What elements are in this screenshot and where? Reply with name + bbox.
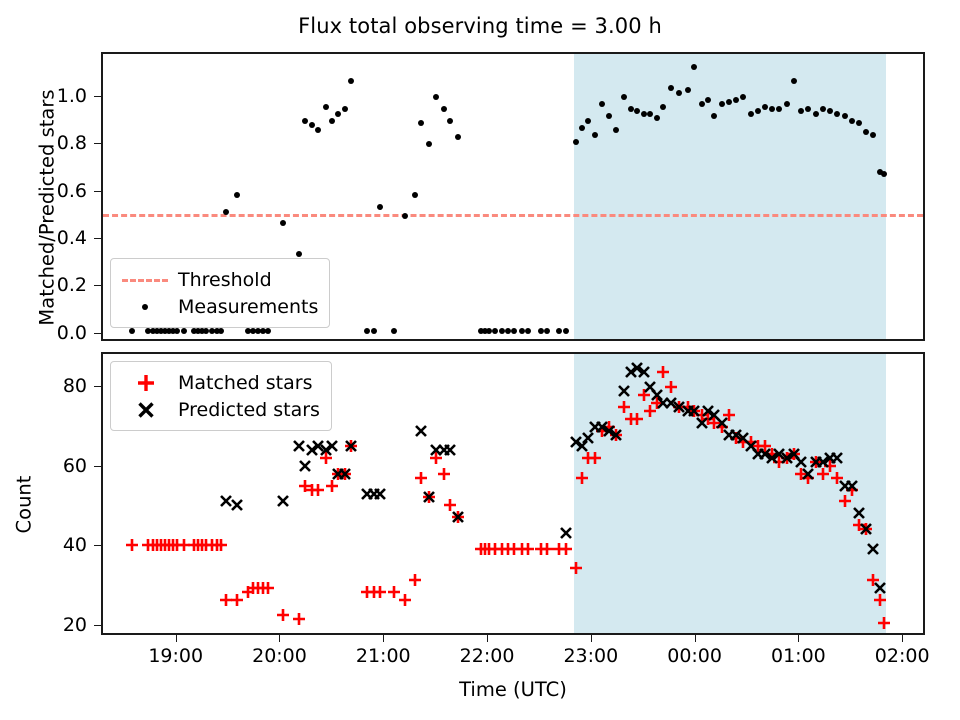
data-point (377, 204, 383, 210)
threshold-line-icon (120, 269, 172, 291)
x-axis-tick (902, 635, 903, 642)
data-point (556, 328, 562, 334)
figure-canvas: Flux total observing time = 3.00 h 0.00.… (0, 0, 960, 720)
y-axis-tick-label: 0.8 (57, 132, 87, 154)
y-axis-tick-label: 60 (63, 455, 87, 477)
data-point (856, 120, 862, 126)
data-point (426, 141, 432, 147)
y-axis-tick-label: 0.6 (57, 180, 87, 202)
legend-label-measurements: Measurements (172, 296, 318, 318)
data-point (881, 171, 887, 177)
x-axis-tick (279, 635, 280, 642)
data-point (719, 101, 725, 107)
legend-item-threshold: Threshold (120, 266, 318, 293)
data-point (309, 122, 315, 128)
time-x-axis: 19:0020:0021:0022:0023:0000:0001:0002:00 (101, 635, 925, 675)
y-axis-tick-label: 40 (63, 534, 87, 556)
data-point (412, 192, 418, 198)
data-point (813, 111, 819, 117)
y-axis-tick-label: 20 (63, 614, 87, 636)
count-y-axis-label: Count (13, 415, 36, 595)
y-axis-tick (94, 191, 101, 192)
data-point (599, 101, 605, 107)
y-axis-tick-label: 80 (63, 375, 87, 397)
data-point (641, 111, 647, 117)
data-point (544, 328, 550, 334)
data-point (499, 328, 505, 334)
data-point (323, 104, 329, 110)
data-point (402, 213, 408, 219)
x-axis-tick-label: 00:00 (667, 645, 722, 667)
x-axis-tick-label: 19:00 (148, 645, 203, 667)
data-point (492, 328, 498, 334)
cross-marker-icon (120, 399, 172, 421)
data-point (218, 328, 224, 334)
data-point (621, 94, 627, 100)
data-point (505, 328, 511, 334)
legend-item-predicted-stars: Predicted stars (120, 396, 320, 423)
y-axis-tick-label: 1.0 (57, 85, 87, 107)
x-axis-tick-label: 01:00 (771, 645, 826, 667)
data-point (329, 118, 335, 124)
data-point (433, 94, 439, 100)
x-axis-label: Time (UTC) (101, 678, 925, 701)
data-point (371, 328, 377, 334)
data-point (628, 106, 634, 112)
y-axis-tick-label: 0.0 (57, 322, 87, 344)
y-axis-tick (94, 143, 101, 144)
y-axis-tick (94, 545, 101, 546)
data-point (606, 113, 612, 119)
y-axis-tick (94, 238, 101, 239)
x-axis-tick (487, 635, 488, 642)
ratio-legend: Threshold Measurements (110, 258, 330, 328)
data-point (234, 192, 240, 198)
data-point (733, 97, 739, 103)
plus-marker-icon (120, 372, 172, 394)
data-point (348, 78, 354, 84)
data-point (525, 328, 531, 334)
data-point (265, 328, 271, 334)
data-point (511, 328, 517, 334)
ratio-y-axis-label: Matched/Predicted stars (36, 63, 59, 353)
data-point (203, 328, 209, 334)
data-point (579, 125, 585, 131)
data-point (563, 328, 569, 334)
legend-label-threshold: Threshold (172, 269, 272, 291)
data-point (849, 118, 855, 124)
data-point (573, 139, 579, 145)
data-point (223, 209, 229, 215)
data-point (585, 118, 591, 124)
data-point (315, 127, 321, 133)
data-point (296, 251, 302, 257)
data-point (364, 328, 370, 334)
data-point (726, 99, 732, 105)
data-point (762, 104, 768, 110)
legend-label-predicted-stars: Predicted stars (172, 399, 320, 421)
data-point (685, 87, 691, 93)
data-point (181, 328, 187, 334)
data-point (676, 90, 682, 96)
y-axis-tick (94, 333, 101, 334)
dot-marker-icon (120, 296, 172, 318)
data-point (660, 104, 666, 110)
x-axis-tick (591, 635, 592, 642)
y-axis-tick (94, 466, 101, 467)
x-axis-tick-label: 23:00 (563, 645, 618, 667)
data-point (748, 111, 754, 117)
data-point (820, 106, 826, 112)
data-point (342, 106, 348, 112)
y-axis-tick-label: 0.2 (57, 274, 87, 296)
y-axis-tick (94, 625, 101, 626)
legend-item-measurements: Measurements (120, 293, 318, 320)
data-point (418, 120, 424, 126)
data-point (129, 328, 135, 334)
data-point (784, 101, 790, 107)
data-point (592, 132, 598, 138)
x-axis-tick-label: 20:00 (252, 645, 307, 667)
legend-label-matched-stars: Matched stars (172, 372, 312, 394)
data-point (538, 328, 544, 334)
data-point (647, 111, 653, 117)
data-point (335, 111, 341, 117)
x-axis-tick-label: 22:00 (460, 645, 515, 667)
data-point (519, 328, 525, 334)
data-point (280, 220, 286, 226)
y-axis-tick (94, 285, 101, 286)
data-point (791, 78, 797, 84)
data-point (668, 85, 674, 91)
x-axis-tick (695, 635, 696, 642)
count-legend: Matched stars Predicted stars (110, 361, 332, 431)
data-point (705, 97, 711, 103)
data-point (755, 108, 761, 114)
data-point (842, 113, 848, 119)
page-title: Flux total observing time = 3.00 h (0, 14, 960, 38)
data-point (834, 111, 840, 117)
data-point (302, 118, 308, 124)
data-point (447, 118, 453, 124)
data-point (174, 328, 180, 334)
x-axis-tick (176, 635, 177, 642)
y-axis-tick (94, 386, 101, 387)
data-point (691, 64, 697, 70)
y-axis-tick-label: 0.4 (57, 227, 87, 249)
data-point (654, 115, 660, 121)
data-point (391, 328, 397, 334)
x-axis-tick (383, 635, 384, 642)
data-point (486, 328, 492, 334)
data-point (455, 134, 461, 140)
x-axis-tick (798, 635, 799, 642)
legend-item-matched-stars: Matched stars (120, 369, 320, 396)
x-axis-tick-label: 21:00 (356, 645, 411, 667)
data-point (441, 106, 447, 112)
x-axis-tick-label: 02:00 (875, 645, 930, 667)
y-axis-tick (94, 96, 101, 97)
